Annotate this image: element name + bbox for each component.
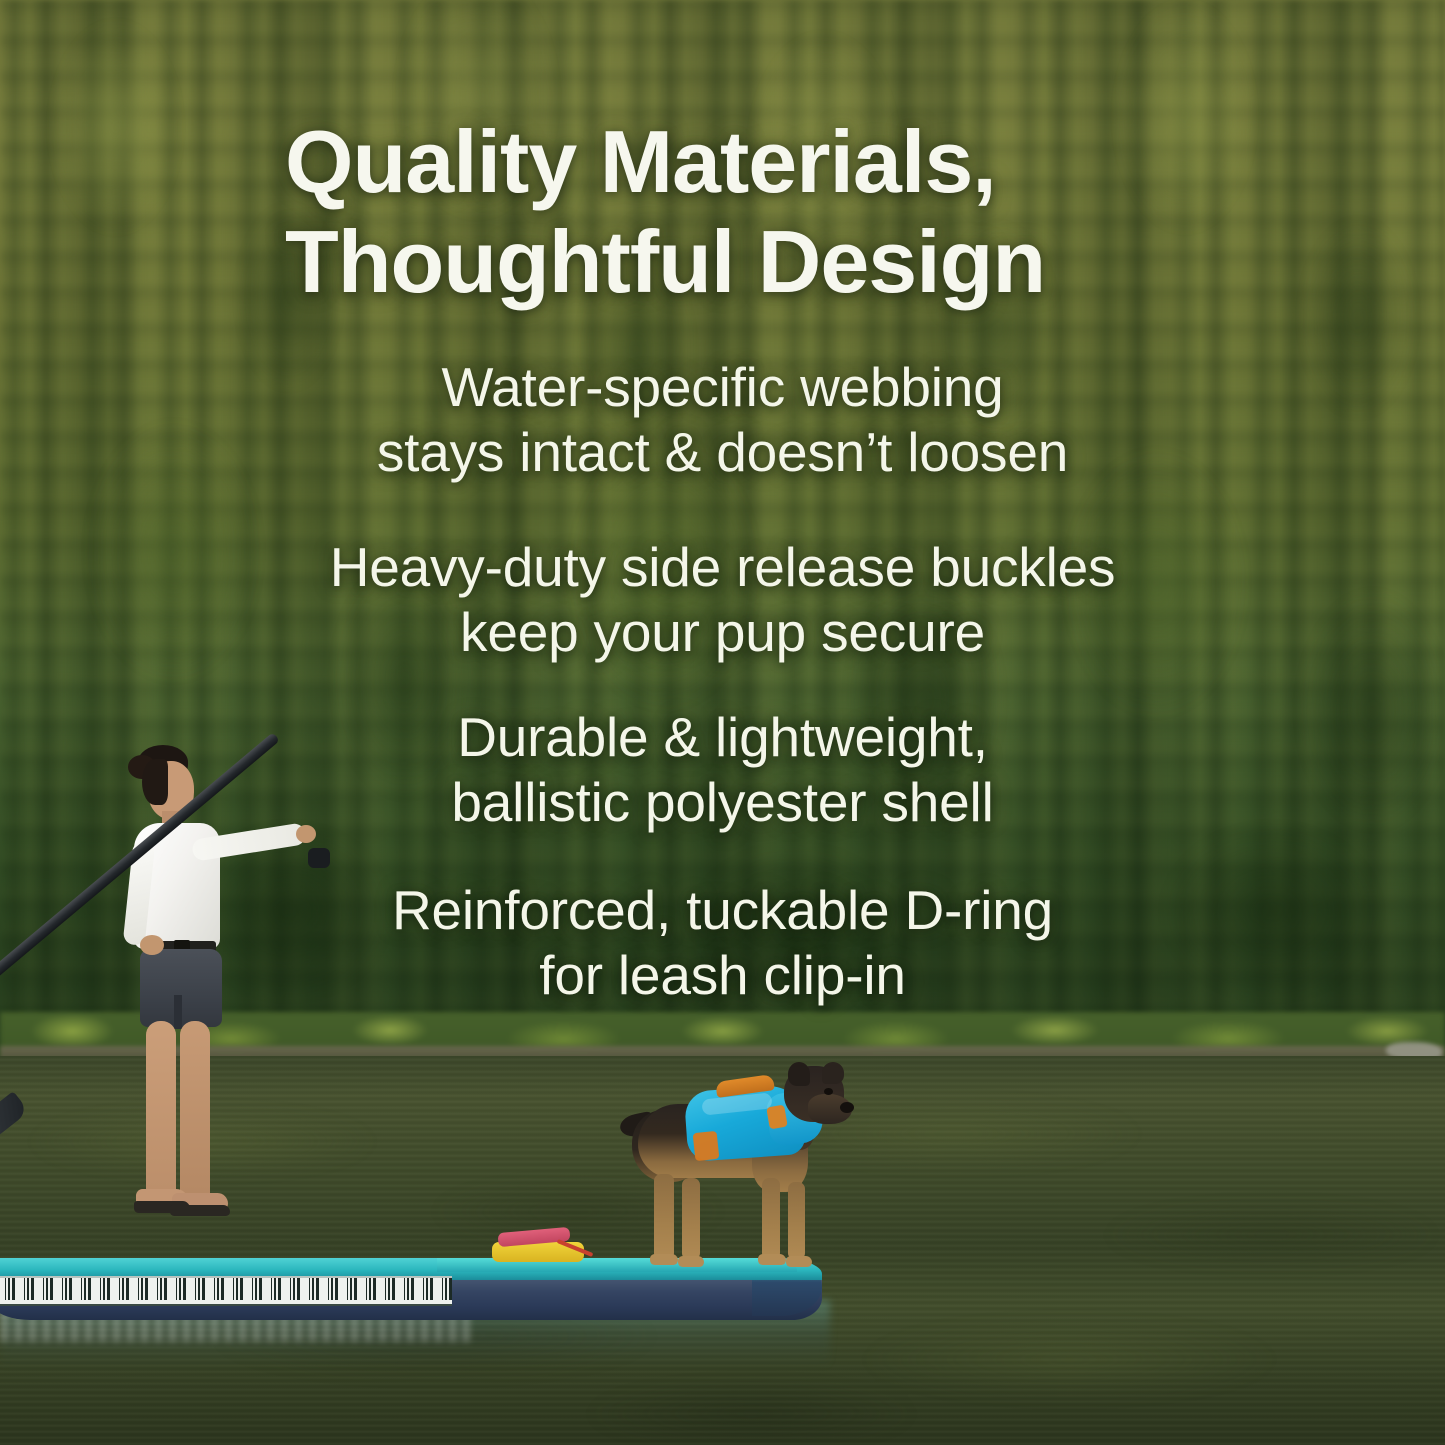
dog-figure — [612, 1062, 862, 1268]
paddler-leg-left — [146, 1021, 176, 1201]
dog-eye — [824, 1088, 833, 1095]
dog-paw-back-right — [678, 1256, 704, 1267]
paddleboard-tick-pattern — [0, 1278, 452, 1300]
dog-leg-back-right — [682, 1178, 700, 1260]
dog-paw-front-right — [786, 1256, 812, 1267]
dog-paw-back-left — [650, 1254, 678, 1265]
dog-vest-orange-panel — [693, 1131, 720, 1161]
dog-ear-left — [788, 1062, 810, 1086]
paddler-hair-side — [142, 759, 168, 805]
paddler-leg-right — [180, 1021, 210, 1201]
paddler-sandal-right — [170, 1205, 230, 1216]
dog-nose — [840, 1102, 854, 1113]
paddler-top-hand — [296, 825, 316, 843]
dog-leg-back-left — [654, 1174, 674, 1260]
dog-leg-front-right — [788, 1182, 805, 1260]
paddler-shorts-inseam — [174, 995, 182, 1029]
dog-ear-right — [822, 1062, 844, 1084]
dog-paw-front-left — [758, 1254, 786, 1265]
paddler-lower-hand — [140, 935, 164, 955]
paddle-grip — [308, 848, 330, 868]
product-feature-image: Quality Materials, Thoughtful Design Wat… — [0, 0, 1445, 1445]
paddler-figure — [100, 745, 350, 1265]
dog-vest-orange-accent — [766, 1105, 788, 1130]
dog-leg-front-left — [762, 1178, 780, 1260]
